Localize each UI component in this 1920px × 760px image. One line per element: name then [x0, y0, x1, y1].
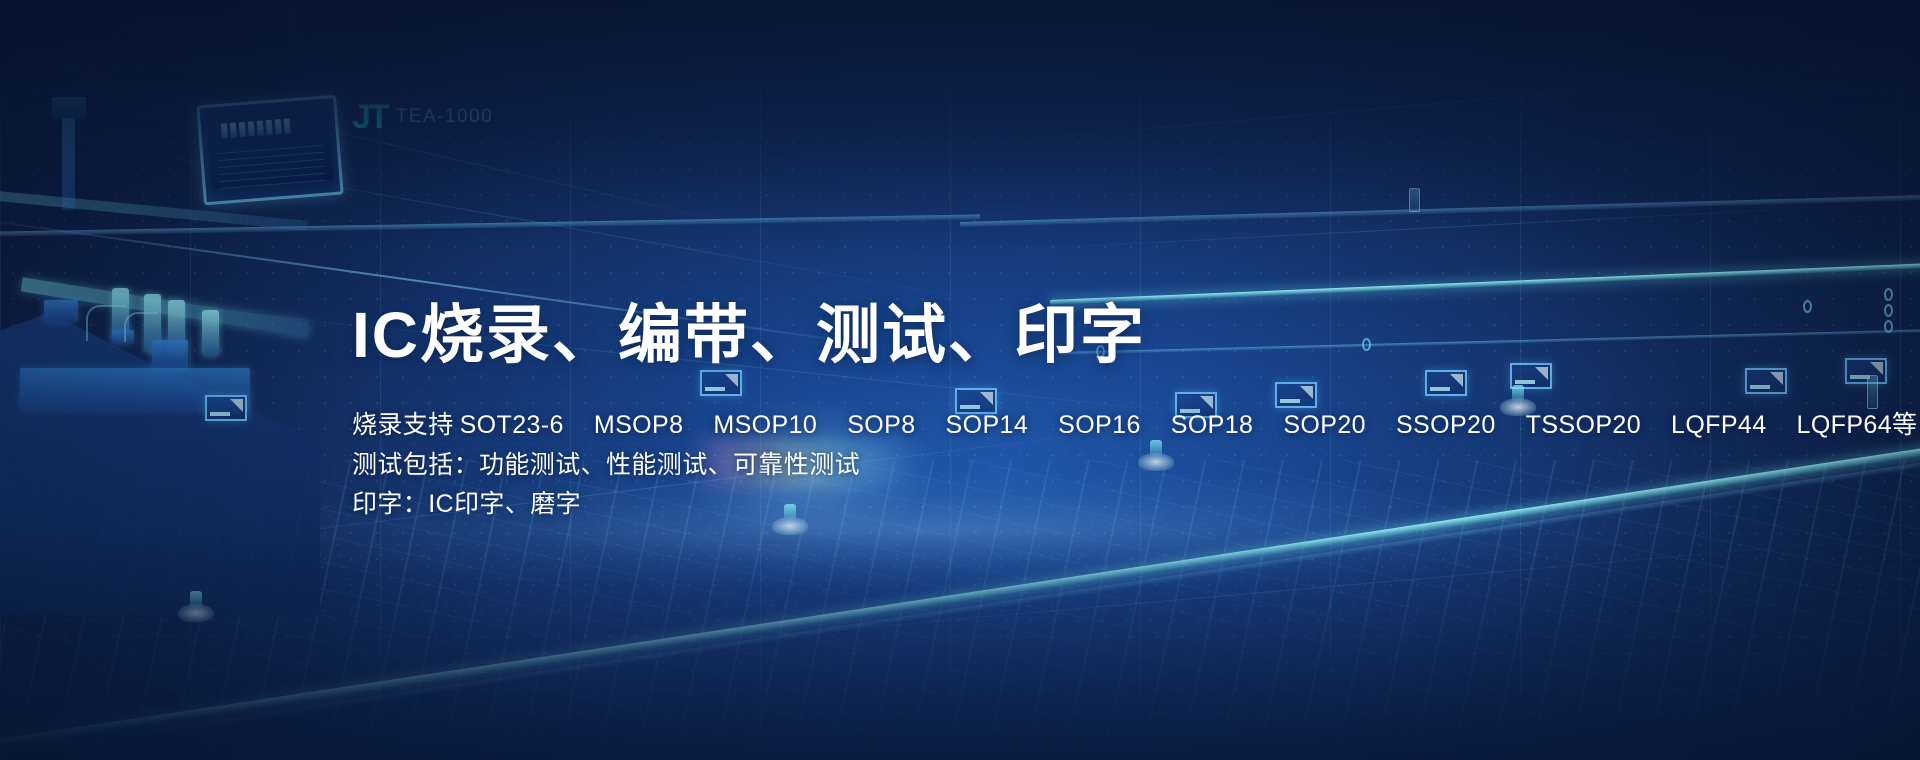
- package-label: SOP14: [946, 411, 1029, 439]
- package-label: SOP20: [1283, 411, 1366, 439]
- banner-subline-list: 烧录支持SOT23-6MSOP8MSOP10SOP8SOP14SOP16SOP1…: [352, 406, 1622, 525]
- subline-testing: 测试包括：功能测试、性能测试、可靠性测试: [352, 446, 1622, 486]
- package-label: SOT23-6: [460, 411, 564, 439]
- package-label: SSOP20: [1396, 411, 1496, 439]
- banner-headline: IC烧录、编带、测试、印字: [352, 300, 1622, 370]
- package-label: SOP18: [1171, 411, 1254, 439]
- package-label: TSSOP20: [1526, 411, 1641, 439]
- package-label: MSOP8: [594, 411, 684, 439]
- package-label: MSOP10: [713, 411, 817, 439]
- subline-marking: 印字：IC印字、磨字: [352, 485, 1622, 525]
- package-label: LQFP44: [1671, 411, 1767, 439]
- burn-support-lead: 烧录支持: [352, 411, 454, 439]
- subline-burn-support: 烧录支持SOT23-6MSOP8MSOP10SOP8SOP14SOP16SOP1…: [352, 406, 1622, 446]
- ic-service-banner: JT TEA-1000 IC烧录、编带、测试、印字 烧录支持SOT23-6MSO…: [0, 0, 1920, 760]
- package-label: LQFP64等: [1797, 411, 1918, 439]
- banner-copy: IC烧录、编带、测试、印字 烧录支持SOT23-6MSOP8MSOP10SOP8…: [352, 300, 1622, 525]
- package-label: SOP8: [847, 411, 915, 439]
- package-list: SOT23-6MSOP8MSOP10SOP8SOP14SOP16SOP18SOP…: [460, 411, 1918, 439]
- package-label: SOP16: [1058, 411, 1141, 439]
